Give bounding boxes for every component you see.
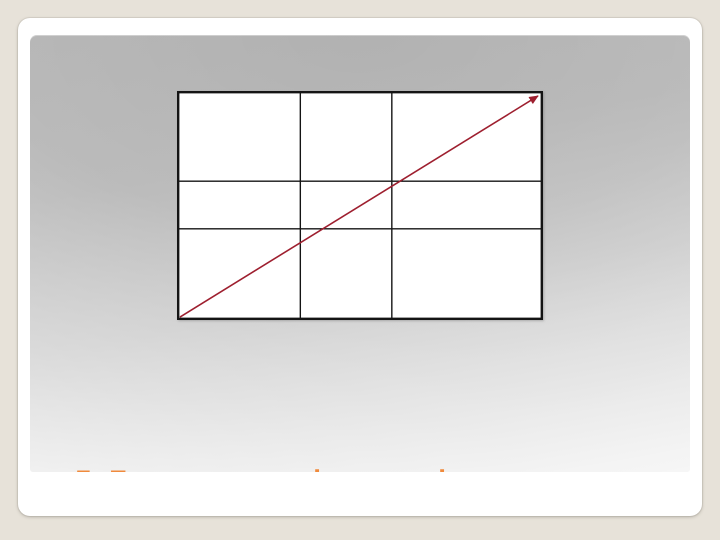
rule-of-thirds-grid-figure	[177, 91, 543, 320]
slide-page: 5. Геометрия в фотографии	[0, 0, 720, 540]
slide-content-stage: 5. Геометрия в фотографии	[30, 35, 690, 472]
slide-title: 5. Геометрия в фотографии	[75, 465, 690, 472]
slide-footer-band	[30, 472, 690, 512]
rule-of-thirds-grid-svg	[178, 92, 542, 319]
